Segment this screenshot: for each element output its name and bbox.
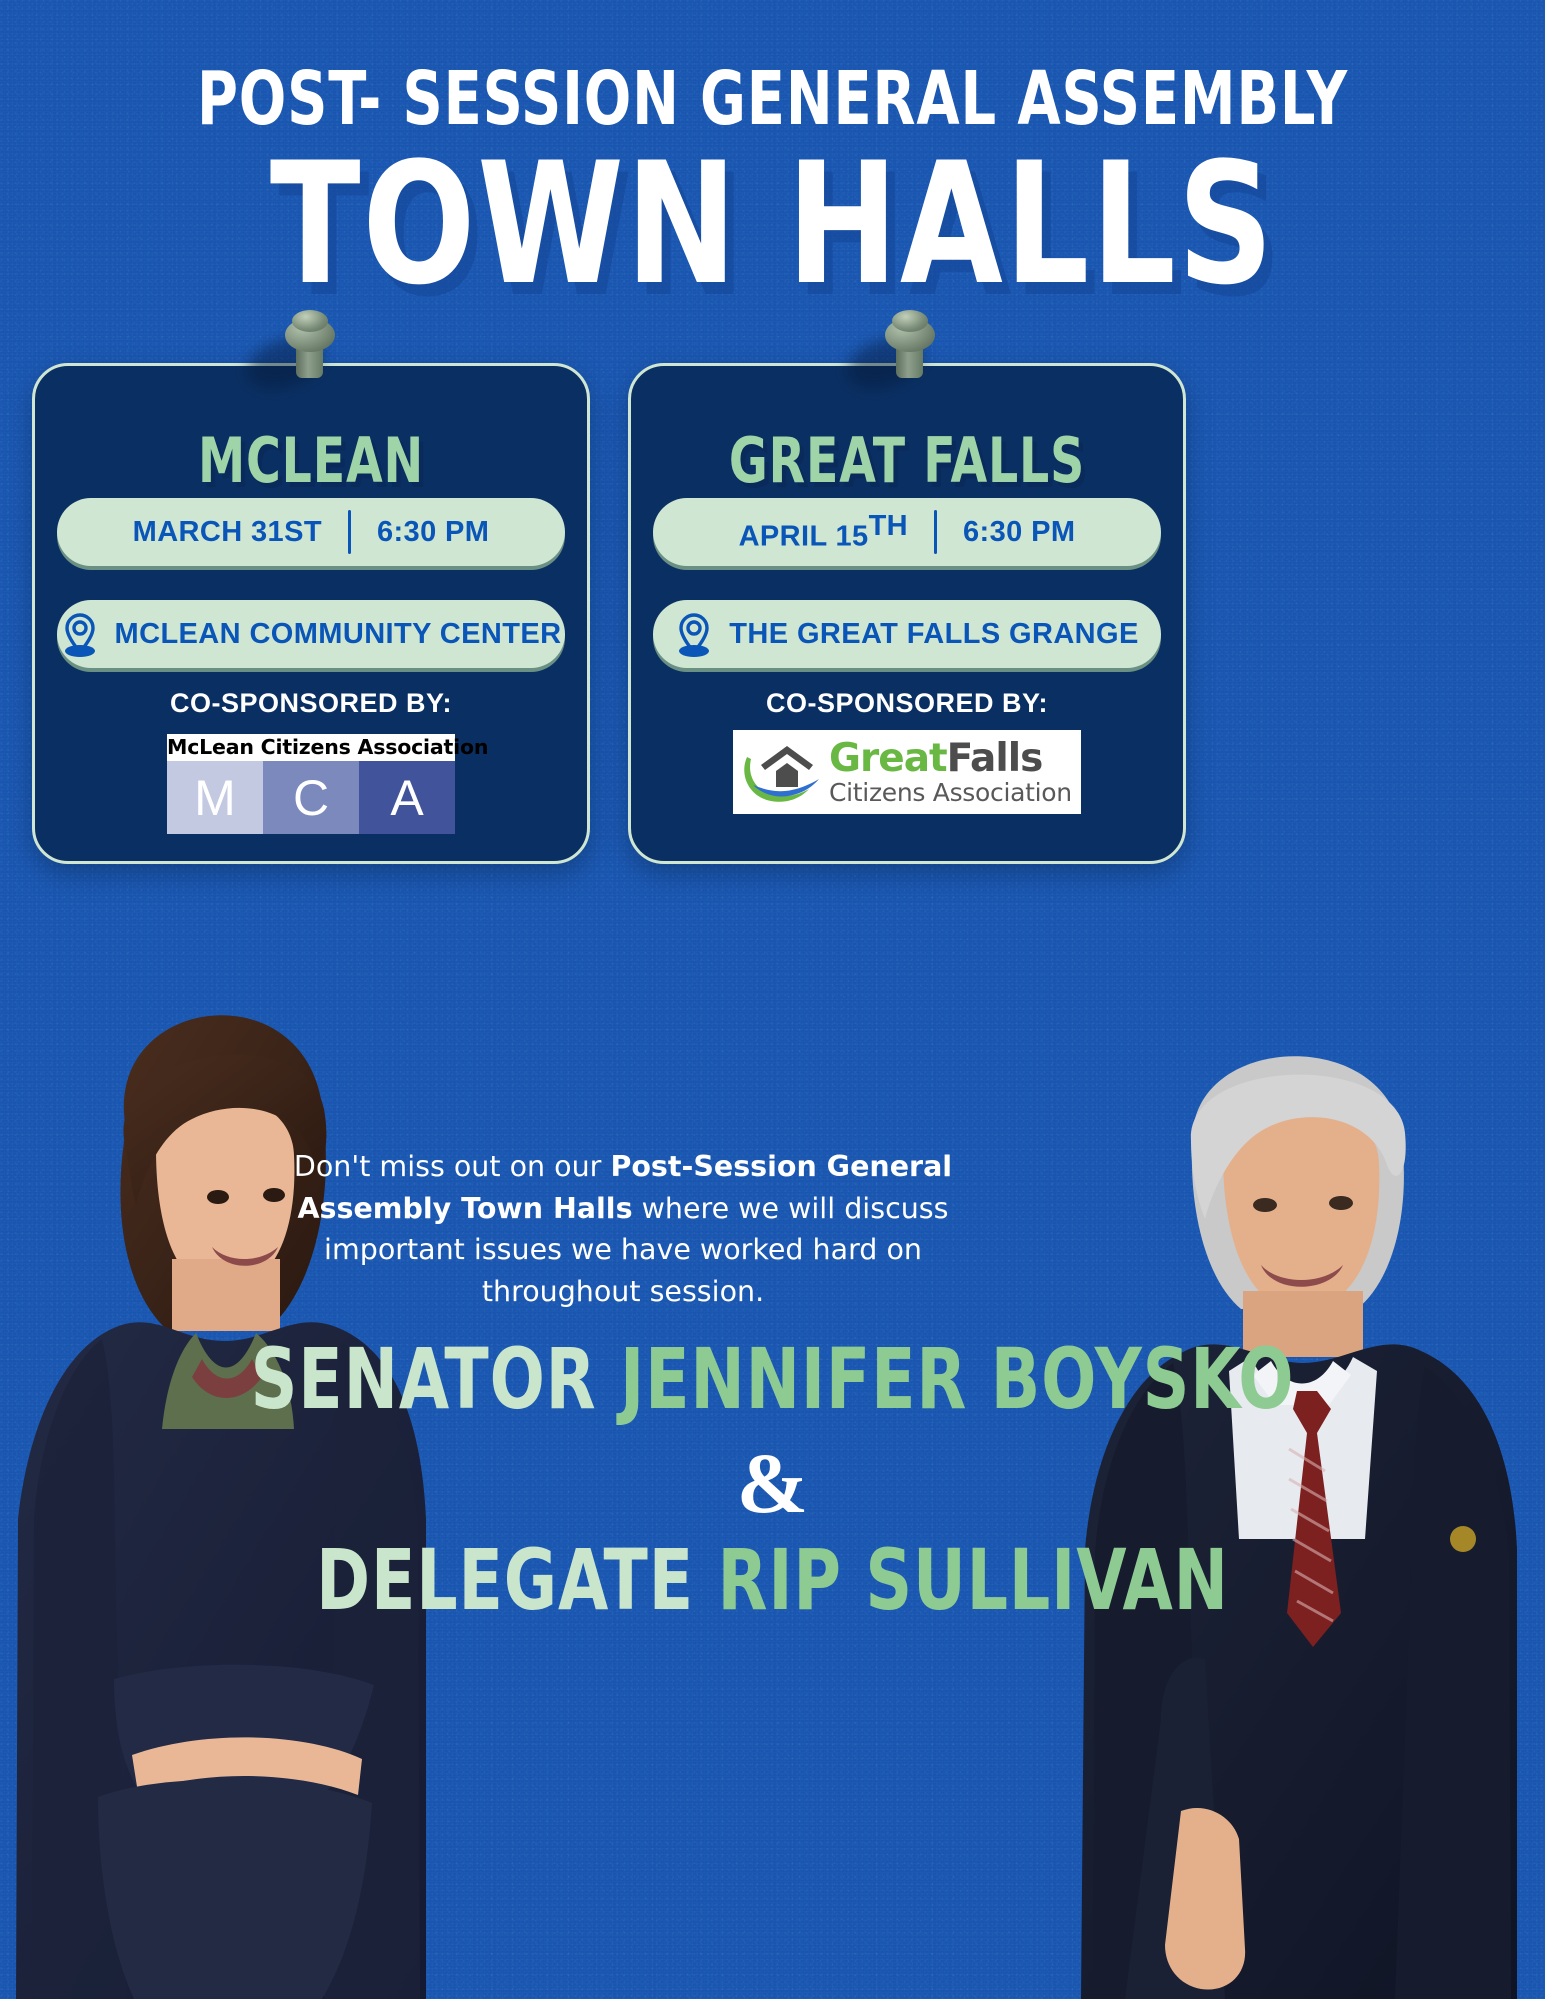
pill-divider xyxy=(348,510,351,554)
house-swoosh-icon xyxy=(739,737,825,807)
gfca-word-great: Great xyxy=(829,736,947,781)
mca-logo-tiles: M C A xyxy=(167,761,455,834)
gfca-logo-line2: Citizens Association xyxy=(829,780,1072,805)
event-card-great-falls: GREAT FALLS APRIL 15TH 6:30 PM THE GREAT… xyxy=(628,363,1186,864)
poster-title: TOWN HALLS xyxy=(93,140,1453,308)
event-datetime-pill-mclean: MARCH 31ST 6:30 PM xyxy=(57,498,565,566)
date-superscript: TH xyxy=(869,510,908,542)
event-venue-mclean: MCLEAN COMMUNITY CENTER xyxy=(115,618,562,651)
mca-letter-c: C xyxy=(263,761,359,834)
ampersand: & xyxy=(0,1440,1545,1526)
event-date-great-falls: APRIL 15TH xyxy=(739,510,908,554)
event-venue-great-falls: THE GREAT FALLS GRANGE xyxy=(729,618,1138,651)
pill-divider xyxy=(934,510,937,554)
event-datetime-pill-great-falls: APRIL 15TH 6:30 PM xyxy=(653,498,1161,566)
sponsor-logo-mca: McLean Citizens Association M C A xyxy=(167,734,455,834)
event-time-great-falls: 6:30 PM xyxy=(963,516,1075,549)
cosponsor-label-great-falls: CO-SPONSORED BY: xyxy=(631,688,1183,719)
gfca-logo-line1: GreatFalls xyxy=(829,739,1072,778)
event-city-great-falls: GREAT FALLS xyxy=(672,424,1141,497)
speaker-names: SENATOR JENNIFER BOYSKO & DELEGATE RIP S… xyxy=(0,1335,1545,1625)
event-venue-pill-mclean: MCLEAN COMMUNITY CENTER xyxy=(57,600,565,668)
speaker-line-senator: SENATOR JENNIFER BOYSKO xyxy=(108,1335,1437,1424)
location-pin-icon xyxy=(61,611,99,657)
gfca-logo-words: GreatFalls Citizens Association xyxy=(829,739,1072,805)
event-city-mclean: MCLEAN xyxy=(76,424,545,497)
cosponsor-label-mclean: CO-SPONSORED BY: xyxy=(35,688,587,719)
mca-letter-m: M xyxy=(167,761,263,834)
speaker-line-delegate: DELEGATE RIP SULLIVAN xyxy=(108,1536,1437,1625)
speaker-name-boysko: JENNIFER BOYSKO xyxy=(620,1330,1294,1428)
event-card-mclean: MCLEAN MARCH 31ST 6:30 PM MCLEAN COMMUNI… xyxy=(32,363,590,864)
event-date-mclean: MARCH 31ST xyxy=(133,516,322,549)
location-pin-icon xyxy=(675,611,713,657)
speaker-role-senator: SENATOR xyxy=(251,1330,620,1428)
speaker-role-delegate: DELEGATE xyxy=(316,1531,717,1629)
gfca-word-falls: Falls xyxy=(947,736,1043,781)
mca-logo-name: McLean Citizens Association xyxy=(167,734,455,761)
event-venue-pill-great-falls: THE GREAT FALLS GRANGE xyxy=(653,600,1161,668)
description-part1: Don't miss out on our xyxy=(294,1150,611,1183)
town-hall-poster: POST- SESSION GENERAL ASSEMBLY TOWN HALL… xyxy=(0,0,1545,1999)
sponsor-logo-gfca: GreatFalls Citizens Association xyxy=(733,730,1081,814)
event-time-mclean: 6:30 PM xyxy=(377,516,489,549)
speaker-name-sullivan: RIP SULLIVAN xyxy=(717,1531,1228,1629)
mca-letter-a: A xyxy=(359,761,455,834)
poster-description: Don't miss out on our Post-Session Gener… xyxy=(273,1146,973,1312)
